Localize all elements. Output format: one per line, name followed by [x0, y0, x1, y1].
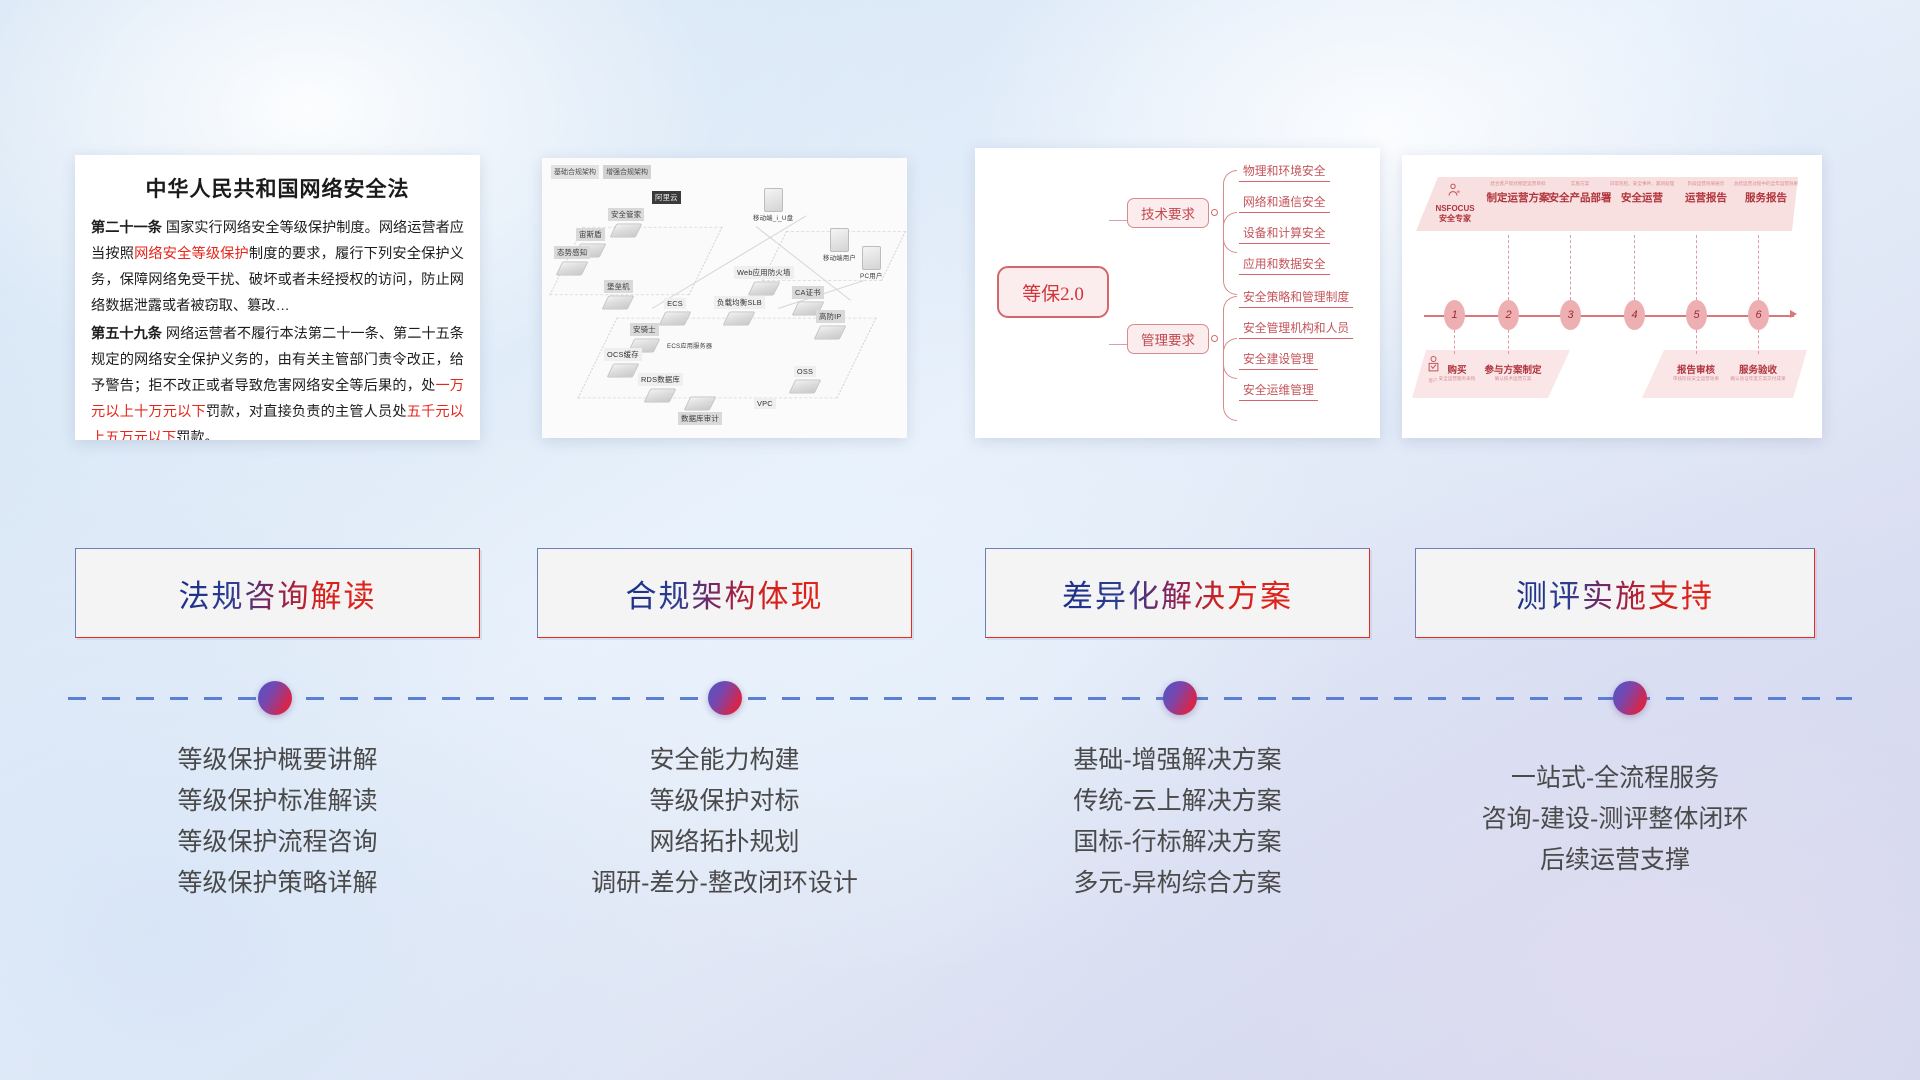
architecture-tabs: 基础合规架构 增强合规架构 [551, 165, 651, 179]
architecture-node-mobile-user: 移动端用户 [820, 228, 859, 263]
heading-label: 测评实施支持 [1516, 571, 1714, 616]
cube-icon [607, 364, 640, 378]
timeline-step-main: 服务报告 [1728, 190, 1804, 205]
timeline-node-3[interactable]: 3 [1560, 300, 1581, 330]
timeline-tick [1508, 235, 1509, 300]
timeline-step-6: 总结运营过程中的全年运营效果 服务报告 [1728, 181, 1804, 205]
detail-column-assessment-support: 一站式-全流程服务 咨询-建设-测评整体闭环 后续运营支撑 [1415, 758, 1815, 881]
law-paragraph-59: 第五十九条 网络运营者不履行本法第二十一条、第二十五条规定的网络安全保护义务的，… [91, 322, 464, 440]
architecture-node-pc-user: PC用户 [857, 246, 885, 281]
timeline-vendor-role: 安全专家 [1426, 214, 1484, 224]
timeline-tick [1696, 235, 1697, 300]
mindmap-leaf: 安全策略和管理制度 [1239, 288, 1353, 308]
timeline-tick [1454, 330, 1455, 354]
timeline-node-4[interactable]: 4 [1624, 300, 1645, 330]
timeline-canvas: NSFOCUS 安全专家 结合客户现状圈定运营目标 制定运营方案 实施方案 安全… [1402, 155, 1822, 438]
cube-icon [723, 312, 756, 326]
mindmap-leaf: 网络和通信安全 [1239, 193, 1330, 213]
timeline-rail [68, 697, 1852, 700]
detail-item: 多元-异构综合方案 [985, 863, 1370, 904]
architecture-canvas: 基础合规架构 增强合规架构 阿里云 安全管家 宙斯盾 态势感知 堡垒机 [542, 158, 907, 438]
mindmap-curve-tech-bottom [1223, 212, 1237, 295]
architecture-node-anti-ddos-ip: 高防IP [816, 310, 845, 341]
mindmap-link-management [1109, 344, 1129, 345]
mindmap-link-technical [1109, 220, 1129, 221]
card-cybersecurity-law[interactable]: 中华人民共和国网络安全法 第二十一条 国家实行网络安全等级保护制度。网络运营者应… [75, 155, 480, 440]
timeline-arrow-icon [1790, 310, 1797, 318]
timeline-tick [1634, 235, 1635, 300]
timeline-step-main: 报告审核 [1664, 362, 1728, 376]
law-title: 中华人民共和国网络安全法 [91, 173, 464, 203]
timeline-step-main: 参与方案制定 [1478, 362, 1548, 376]
architecture-node-label: 高防IP [816, 310, 845, 323]
architecture-node-slb: 负载均衡SLB [714, 296, 765, 327]
headings-row: 法规咨询解读 合规架构体现 差异化解决方案 测评实施支持 [0, 548, 1920, 648]
rail-dot-2[interactable] [708, 681, 742, 715]
architecture-node-label: OCS缓存 [604, 348, 642, 361]
detail-column-regulation-consulting: 等级保护概要讲解 等级保护标准解读 等级保护流程咨询 等级保护策略详解 [75, 740, 480, 904]
timeline-node-1[interactable]: 1 [1444, 300, 1465, 330]
mindmap-leaf: 物理和环境安全 [1239, 162, 1330, 182]
architecture-node-waf: Web应用防火墙 [734, 266, 794, 297]
rail-dot-3[interactable] [1163, 681, 1197, 715]
card-service-timeline[interactable]: NSFOCUS 安全专家 结合客户现状圈定运营目标 制定运营方案 实施方案 安全… [1402, 155, 1822, 438]
timeline-node-2[interactable]: 2 [1498, 300, 1519, 330]
architecture-node-label: 阿里云 [652, 191, 681, 204]
cube-icon [602, 296, 635, 310]
rail-dot-4[interactable] [1613, 681, 1647, 715]
law-text-59c: 罚款。 [176, 430, 219, 440]
timeline-customer-step-4: 服务验收 确认验证年度方案交付成果 [1726, 359, 1790, 382]
cube-icon [659, 312, 692, 326]
timeline-actor-vendor: NSFOCUS 安全专家 [1426, 183, 1484, 224]
architecture-node-security-butler: 安全管家 [608, 208, 644, 239]
device-icon [862, 246, 881, 270]
architecture-node-label: 宙斯盾 [576, 228, 605, 241]
detail-item: 一站式-全流程服务 [1415, 758, 1815, 799]
detail-item: 等级保护对标 [537, 781, 912, 822]
mindmap-leaf: 设备和计算安全 [1239, 224, 1330, 244]
cube-icon [556, 262, 589, 276]
detail-item: 等级保护标准解读 [75, 781, 480, 822]
architecture-node-rds: RDS数据库 [638, 373, 683, 404]
detail-item: 等级保护概要讲解 [75, 740, 480, 781]
architecture-node-label: 态势感知 [554, 246, 590, 259]
reference-cards-row: 中华人民共和国网络安全法 第二十一条 国家实行网络安全等级保护制度。网络运营者应… [0, 0, 1920, 470]
mindmap-collapse-dot-management[interactable] [1211, 335, 1218, 342]
architecture-node-vpc: VPC [754, 398, 776, 409]
timeline-step-sub: 确认技术运营方案 [1478, 376, 1548, 382]
rail-dot-1[interactable] [258, 681, 292, 715]
detail-item: 咨询-建设-测评整体闭环 [1415, 799, 1815, 840]
timeline-tick [1758, 235, 1759, 300]
architecture-tab-basic[interactable]: 基础合规架构 [551, 165, 599, 179]
detail-item: 调研-差分-整改闭环设计 [537, 863, 912, 904]
detail-item: 安全能力构建 [537, 740, 912, 781]
detail-item: 传统-云上解决方案 [985, 781, 1370, 822]
mindmap-branch-management: 管理要求 [1127, 324, 1209, 354]
person-star-icon [1447, 183, 1463, 199]
timeline-step-main: 服务验收 [1726, 362, 1790, 376]
architecture-tab-enhanced[interactable]: 增强合规架构 [603, 165, 651, 179]
architecture-node-label: OSS [794, 366, 816, 377]
architecture-node-label: PC用户 [857, 270, 885, 281]
cube-icon [610, 224, 643, 238]
law-highlight-21: 网络安全等级保护 [134, 246, 249, 262]
timeline-node-6[interactable]: 6 [1748, 300, 1769, 330]
architecture-node-label: ECS应用服务器 [664, 340, 715, 351]
detail-item: 等级保护流程咨询 [75, 822, 480, 863]
cube-icon [789, 380, 822, 394]
heading-box-compliance-architecture[interactable]: 合规架构体现 [537, 548, 912, 638]
timeline-tick [1758, 330, 1759, 354]
cube-icon [747, 282, 780, 296]
law-article-label-21: 第二十一条 [91, 220, 162, 236]
timeline-tick [1508, 330, 1509, 354]
detail-item: 等级保护策略详解 [75, 863, 480, 904]
mindmap-leaf: 应用和数据安全 [1239, 255, 1330, 275]
timeline-step-sub: 审核阶段安全运营效果 [1664, 376, 1728, 382]
card-mindmap-dengbao[interactable]: 等保2.0 技术要求 管理要求 物理和环境安全 网络和通信安全 设备和计算安全 … [975, 148, 1380, 438]
mindmap-curve-mgmt-bottom [1223, 338, 1237, 421]
timeline-step-sub: 总结运营过程中的全年运营效果 [1728, 181, 1804, 187]
architecture-node-aliyun: 阿里云 [652, 191, 681, 204]
architecture-node-bastion-host: 堡垒机 [604, 280, 633, 311]
detail-column-compliance-architecture: 安全能力构建 等级保护对标 网络拓扑规划 调研-差分-整改闭环设计 [537, 740, 912, 904]
architecture-node-label: ECS [664, 298, 686, 309]
architecture-node-label: 数据库审计 [678, 412, 722, 425]
architecture-node-ocs-cache: OCS缓存 [604, 348, 642, 379]
timeline-step-sub: 确认验证年度方案交付成果 [1726, 376, 1790, 382]
mindmap-collapse-dot-technical[interactable] [1211, 209, 1218, 216]
law-article-label-59: 第五十九条 [91, 326, 162, 342]
architecture-node-label: CA证书 [792, 286, 824, 299]
mindmap-canvas: 等保2.0 技术要求 管理要求 物理和环境安全 网络和通信安全 设备和计算安全 … [975, 148, 1380, 438]
timeline-vendor-name: NSFOCUS [1426, 204, 1484, 214]
architecture-node-label: 堡垒机 [604, 280, 633, 293]
architecture-node-label: 移动端用户 [820, 252, 859, 263]
cube-icon [644, 389, 677, 403]
timeline-customer-step-2: 参与方案制定 确认技术运营方案 [1478, 359, 1548, 382]
architecture-node-mobile-u-disk: 移动端_i_U盘 [750, 188, 796, 223]
heading-box-assessment-support[interactable]: 测评实施支持 [1415, 548, 1815, 638]
detail-column-differentiated-solution: 基础-增强解决方案 传统-云上解决方案 国标-行标解决方案 多元-异构综合方案 [985, 740, 1370, 904]
mindmap-root-node: 等保2.0 [997, 266, 1109, 318]
architecture-node-ecs-app-server: ECS应用服务器 [664, 340, 715, 351]
timeline-tick [1696, 330, 1697, 354]
detail-item: 基础-增强解决方案 [985, 740, 1370, 781]
mindmap-branch-technical: 技术要求 [1127, 198, 1209, 228]
card-cloud-architecture[interactable]: 基础合规架构 增强合规架构 阿里云 安全管家 宙斯盾 态势感知 堡垒机 [542, 158, 907, 438]
mindmap-leaf: 安全建设管理 [1239, 350, 1318, 370]
heading-box-regulation-consulting[interactable]: 法规咨询解读 [75, 548, 480, 638]
heading-label: 法规咨询解读 [179, 571, 377, 616]
timeline-customer-step-3: 报告审核 审核阶段安全运营效果 [1664, 359, 1728, 382]
architecture-node-db-audit: 数据库审计 [678, 394, 722, 425]
law-text-59b: 罚款，对直接负责的主管人员处 [206, 404, 407, 420]
timeline-tick [1570, 235, 1571, 300]
architecture-node-label: VPC [754, 398, 776, 409]
architecture-node-situational-awareness: 态势感知 [554, 246, 590, 277]
device-icon [764, 188, 783, 212]
detail-item: 后续运营支撑 [1415, 840, 1815, 881]
heading-box-differentiated-solution[interactable]: 差异化解决方案 [985, 548, 1370, 638]
detail-item: 网络拓扑规划 [537, 822, 912, 863]
device-icon [830, 228, 849, 252]
mindmap-leaf: 安全运维管理 [1239, 381, 1318, 401]
architecture-node-label: 负载均衡SLB [714, 296, 765, 309]
timeline-axis [1424, 315, 1794, 317]
architecture-node-label: 安骑士 [630, 323, 659, 336]
cube-icon [814, 326, 847, 340]
detail-columns-row: 等级保护概要讲解 等级保护标准解读 等级保护流程咨询 等级保护策略详解 安全能力… [0, 740, 1920, 990]
architecture-node-label: RDS数据库 [638, 373, 683, 386]
architecture-node-label: 安全管家 [608, 208, 644, 221]
detail-item: 国标-行标解决方案 [985, 822, 1370, 863]
heading-label: 差异化解决方案 [1062, 571, 1293, 616]
architecture-node-label: 移动端_i_U盘 [750, 212, 796, 223]
law-paragraph-21: 第二十一条 国家实行网络安全等级保护制度。网络运营者应当按照网络安全等级保护制度… [91, 216, 464, 319]
architecture-node-ecs: ECS [662, 298, 688, 327]
heading-label: 合规架构体现 [626, 571, 824, 616]
mindmap-leaf: 安全管理机构和人员 [1239, 319, 1353, 339]
architecture-node-label: Web应用防火墙 [734, 266, 794, 279]
architecture-node-oss: OSS [792, 366, 818, 395]
timeline-node-5[interactable]: 5 [1686, 300, 1707, 330]
cube-icon [684, 397, 717, 411]
